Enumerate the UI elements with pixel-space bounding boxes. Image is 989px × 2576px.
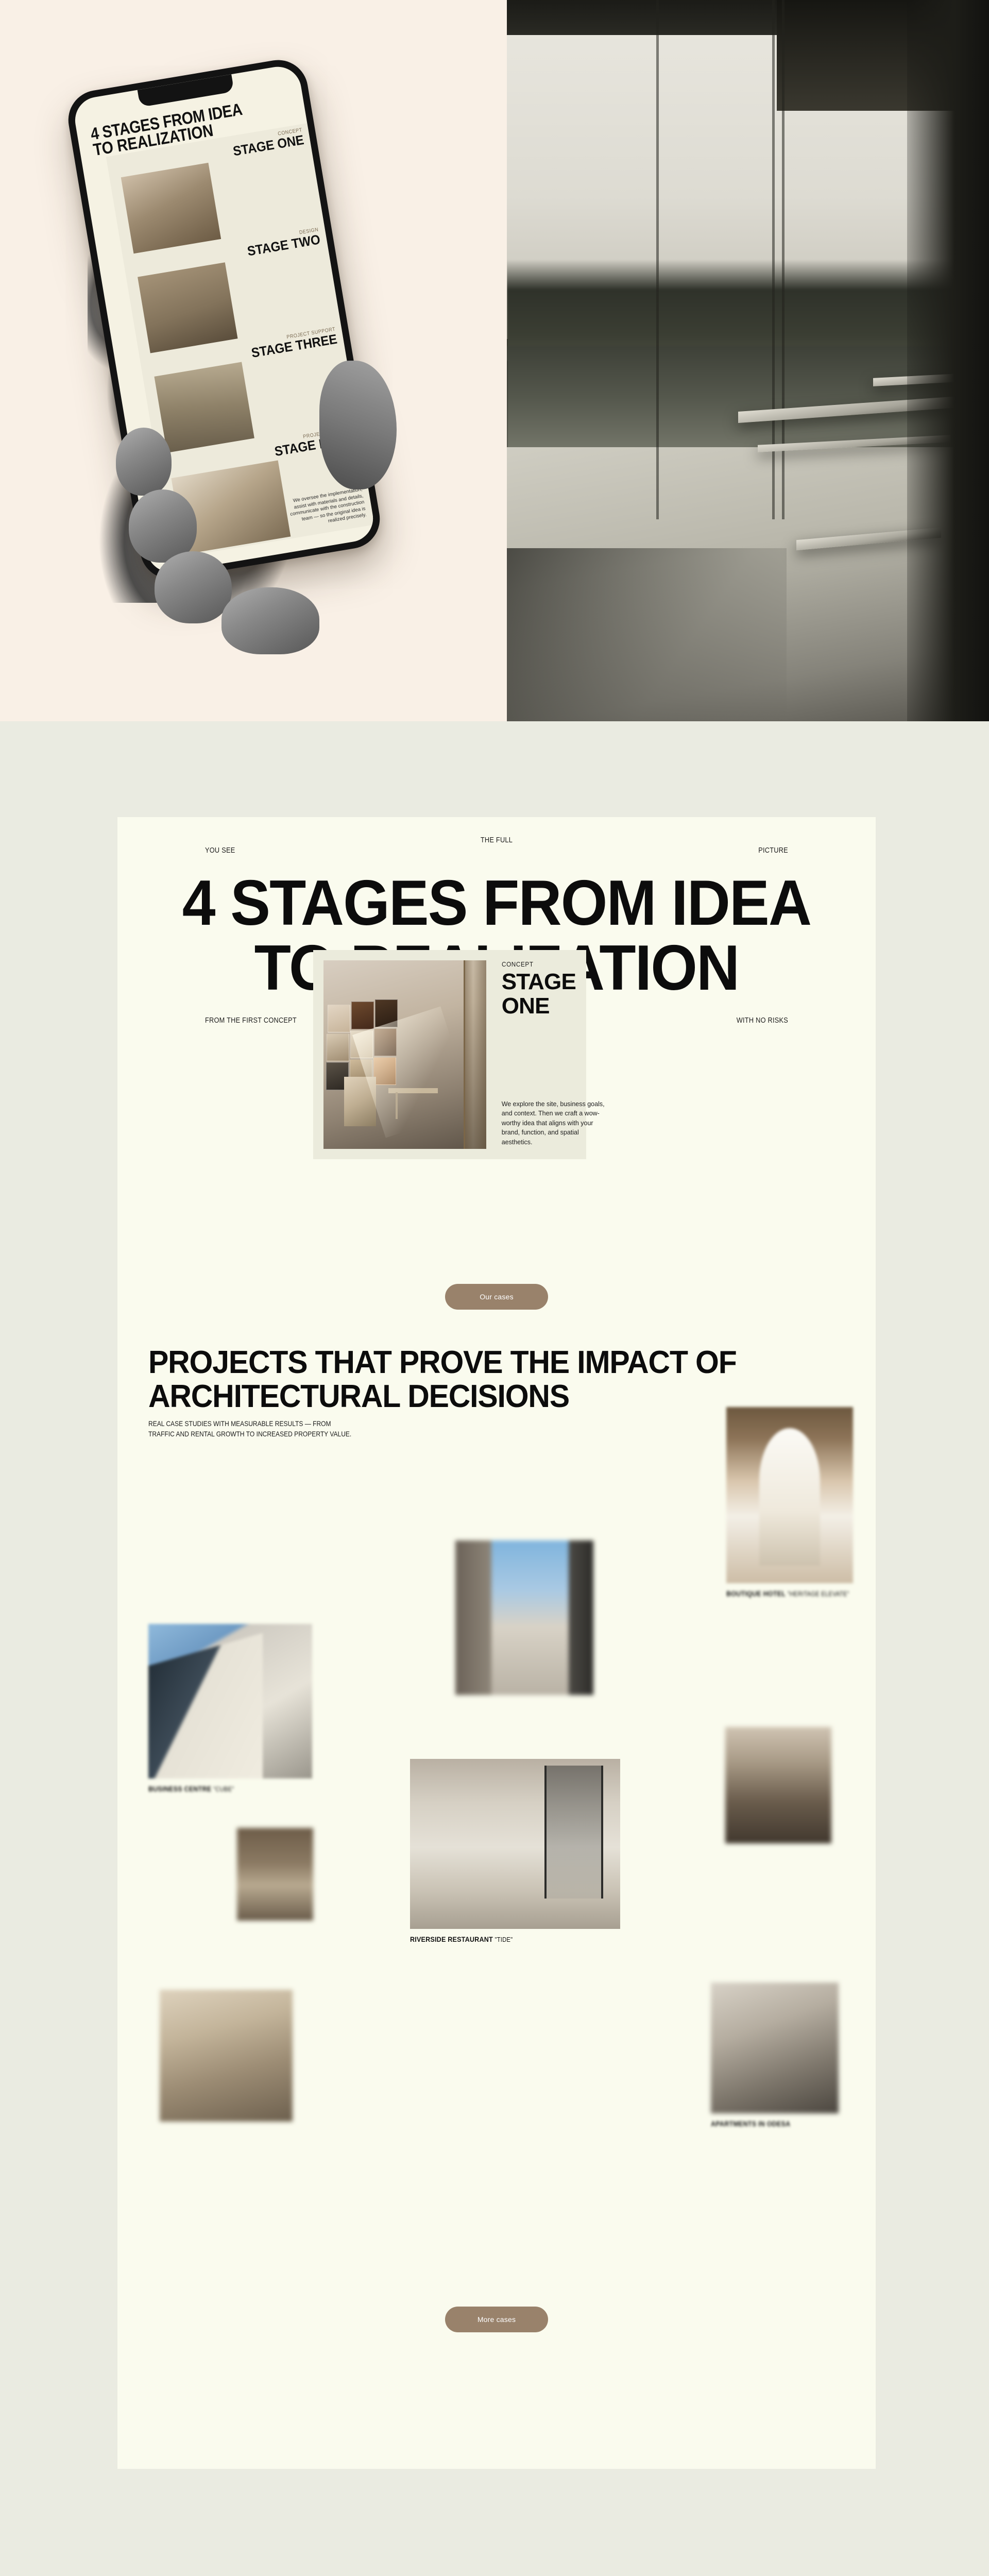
- stage-card-image: [323, 960, 486, 1149]
- gallery-item-name: APARTMENTS IN ODESA: [711, 2120, 790, 2128]
- phone-stage-thumb: [154, 362, 254, 453]
- hero-architecture-photo: [507, 0, 989, 721]
- gallery-item-caption: RIVERSIDE RESTAURANT "TIDE": [410, 1935, 599, 1943]
- hand-finger: [116, 428, 172, 496]
- gallery-item[interactable]: [237, 1828, 313, 1921]
- stage-card[interactable]: CONCEPT STAGE ONE We explore the site, b…: [313, 950, 586, 1159]
- gallery-item[interactable]: BOUTIQUE HOTEL "HERITAGE ELEVATE": [726, 1407, 853, 1598]
- gallery-item-caption: BUSINESS CENTRE "CUBE": [148, 1785, 296, 1793]
- hand-thumb: [319, 361, 397, 489]
- gallery-item-name: BUSINESS CENTRE: [148, 1785, 211, 1793]
- gallery-item-name: RIVERSIDE RESTAURANT: [410, 1935, 493, 1943]
- stage-card-title: STAGE ONE: [502, 970, 576, 1018]
- gallery-item-quote: "CUBE": [213, 1786, 234, 1793]
- gallery-item[interactable]: APARTMENTS IN ODESA: [711, 1982, 839, 2128]
- phone-stage-thumb: [138, 262, 237, 353]
- gallery-item[interactable]: [725, 1727, 831, 1843]
- hand-thumb-lower: [221, 587, 319, 654]
- gallery-item-caption: APARTMENTS IN ODESA: [711, 2120, 826, 2128]
- gallery-item[interactable]: [160, 1990, 293, 2122]
- gallery-item-name: BOUTIQUE HOTEL: [726, 1589, 786, 1598]
- page-card: YOU SEE THE FULL PICTURE FROM THE FIRST …: [117, 817, 876, 2469]
- phone-stage-thumb: [121, 163, 221, 253]
- more-cases-button[interactable]: More cases: [445, 2307, 548, 2332]
- gallery-item-quote: "HERITAGE ELEVATE": [788, 1590, 849, 1598]
- gallery-item[interactable]: BUSINESS CENTRE "CUBE": [148, 1624, 312, 1793]
- phone-stage-description: We oversee the implementation, assist wi…: [281, 487, 367, 532]
- gallery-item-caption: BOUTIQUE HOTEL "HERITAGE ELEVATE": [726, 1589, 840, 1598]
- hero-row: 4 STAGES FROM IDEA TO REALIZATION CONCEP…: [0, 0, 989, 721]
- stage-card-description: We explore the site, business goals, and…: [502, 1099, 609, 1147]
- hand-finger: [155, 551, 232, 623]
- stage-card-kicker: CONCEPT: [502, 960, 569, 968]
- gallery-item-quote: "TIDE": [495, 1936, 513, 1943]
- hero-phone-panel: 4 STAGES FROM IDEA TO REALIZATION CONCEP…: [0, 0, 507, 721]
- gallery-item[interactable]: RIVERSIDE RESTAURANT "TIDE": [410, 1759, 620, 1943]
- gallery-item[interactable]: [455, 1540, 593, 1695]
